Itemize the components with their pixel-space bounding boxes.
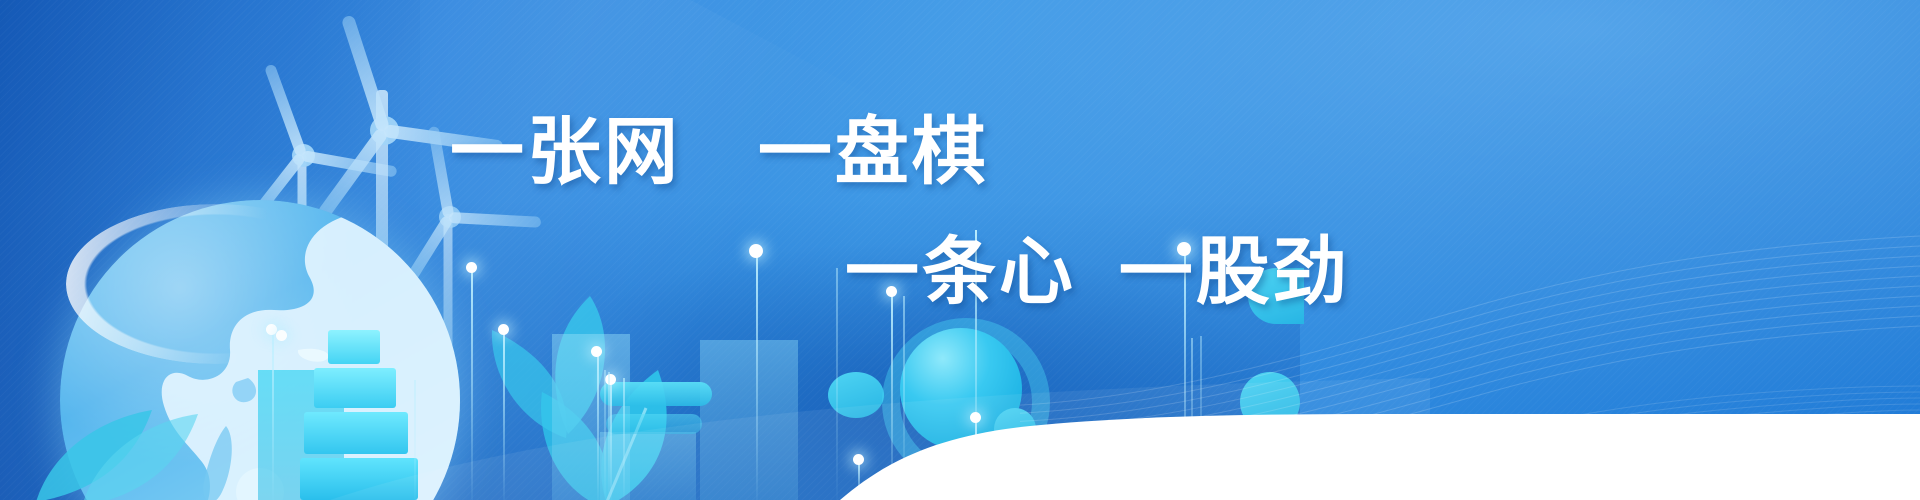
turbine-blade-icon	[449, 212, 541, 228]
headline-line-1: 一张网 一盘棋	[450, 92, 989, 199]
plant-leaves-left	[30, 330, 290, 500]
network-node	[749, 244, 763, 258]
headline-line-2: 一条心 一股劲	[845, 212, 1350, 319]
network-node	[276, 330, 287, 341]
white-curve-icon	[840, 340, 1920, 500]
white-curve	[840, 340, 1920, 500]
network-node	[498, 324, 509, 335]
node-stem	[272, 330, 274, 500]
network-node	[591, 346, 602, 357]
network-node	[466, 262, 477, 273]
hero-banner: 一张网 一盘棋 一条心 一股劲	[0, 0, 1920, 500]
